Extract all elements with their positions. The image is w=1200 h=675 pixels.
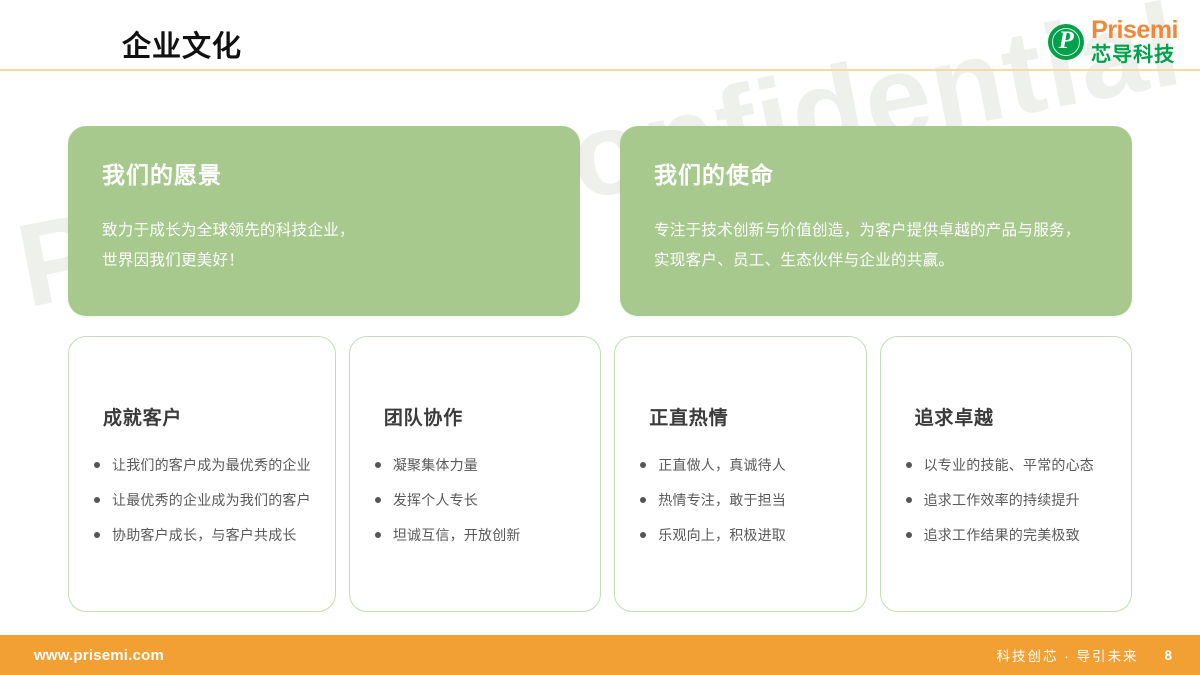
value-card-title: 成就客户 [103,403,311,430]
vision-card: 我们的愿景 致力于成长为全球领先的科技企业， 世界因我们更美好！ [68,126,580,316]
mission-card-line: 专注于技术创新与价值创造，为客户提供卓越的产品与服务， [654,216,1098,246]
list-item: 发挥个人专长 [374,491,576,510]
mission-card: 我们的使命 专注于技术创新与价值创造，为客户提供卓越的产品与服务， 实现客户、员… [620,126,1132,316]
value-card-teamwork: 团队协作 凝聚集体力量 发挥个人专长 坦诚互信，开放创新 [349,336,601,612]
list-item: 凝聚集体力量 [374,456,576,475]
page-title: 企业文化 [122,23,242,65]
slide-header: 企业文化 [0,0,1200,70]
value-card-list: 正直做人，真诚待人 热情专注，敢于担当 乐观向上，积极进取 [639,456,841,545]
value-card-list: 凝聚集体力量 发挥个人专长 坦诚互信，开放创新 [374,456,576,545]
value-card-list: 以专业的技能、平常的心态 追求工作效率的持续提升 追求工作结果的完美极致 [905,456,1107,545]
list-item: 协助客户成长，与客户共成长 [93,526,311,545]
slide-footer: www.prisemi.com 科技创芯 · 导引未来 8 [0,635,1200,675]
header-divider [0,69,1200,71]
footer-right-group: 科技创芯 · 导引未来 8 [996,645,1172,665]
list-item: 追求工作效率的持续提升 [905,491,1107,510]
value-card-list: 让我们的客户成为最优秀的企业 让最优秀的企业成为我们的客户 协助客户成长，与客户… [93,456,311,545]
vision-card-line: 世界因我们更美好！ [102,246,546,276]
value-card-title: 正直热情 [649,403,841,430]
list-item: 让最优秀的企业成为我们的客户 [93,491,311,510]
list-item: 以专业的技能、平常的心态 [905,456,1107,475]
vision-card-line: 致力于成长为全球领先的科技企业， [102,216,546,246]
value-card-row: 成就客户 让我们的客户成为最优秀的企业 让最优秀的企业成为我们的客户 协助客户成… [68,336,1132,612]
slide-root: Prisemi Confidential 企业文化 P Prisemi 芯导科技… [0,0,1200,675]
list-item: 追求工作结果的完美极致 [905,526,1107,545]
mission-card-title: 我们的使命 [654,156,1098,190]
vision-card-title: 我们的愿景 [102,156,546,190]
list-item: 正直做人，真诚待人 [639,456,841,475]
footer-website-link[interactable]: www.prisemi.com [34,647,164,664]
highlight-card-row: 我们的愿景 致力于成长为全球领先的科技企业， 世界因我们更美好！ 我们的使命 专… [68,126,1132,316]
mission-card-line: 实现客户、员工、生态伙伴与企业的共赢。 [654,246,1098,276]
value-card-title: 团队协作 [384,403,576,430]
list-item: 乐观向上，积极进取 [639,526,841,545]
value-card-achieve-customers: 成就客户 让我们的客户成为最优秀的企业 让最优秀的企业成为我们的客户 协助客户成… [68,336,336,612]
list-item: 热情专注，敢于担当 [639,491,841,510]
value-card-pursue-excellence: 追求卓越 以专业的技能、平常的心态 追求工作效率的持续提升 追求工作结果的完美极… [880,336,1132,612]
page-number: 8 [1164,648,1172,663]
list-item: 坦诚互信，开放创新 [374,526,576,545]
footer-slogan: 科技创芯 · 导引未来 [996,645,1138,665]
list-item: 让我们的客户成为最优秀的企业 [93,456,311,475]
value-card-integrity-passion: 正直热情 正直做人，真诚待人 热情专注，敢于担当 乐观向上，积极进取 [614,336,866,612]
value-card-title: 追求卓越 [915,403,1107,430]
